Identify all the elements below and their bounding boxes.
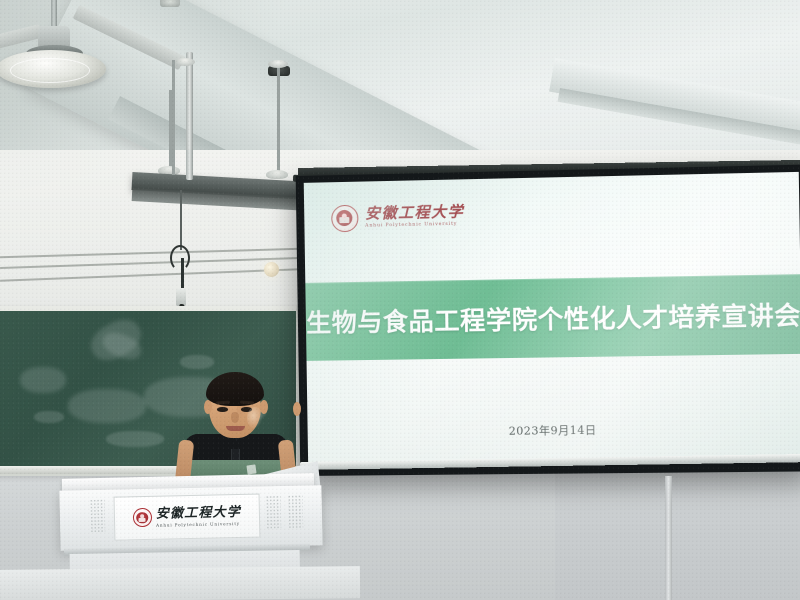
presenter-nose [231,412,239,423]
screen-rod-cap [268,60,288,68]
front-desk-surface [0,566,360,600]
podium-university-logo: 安徽工程大学 Anhui Polytechnic University [133,506,242,528]
light-hanger-cap [266,170,288,179]
projection-screen: 安徽工程大学 Anhui Polytechnic University 生物与食… [296,165,800,476]
podium-logo-name-en: Anhui Polytechnic University [156,522,241,528]
university-seal-icon [133,508,152,527]
presenter-ear-left [204,400,212,414]
university-seal-icon [331,204,358,232]
presentation-slide: 安徽工程大学 Anhui Polytechnic University 生物与食… [304,172,800,466]
podium-logo-panel: 安徽工程大学 Anhui Polytechnic University [114,494,261,541]
seal-inner-dot [141,515,145,519]
presenter-ear [293,402,301,416]
slide-title: 生物与食品工程学院个性化人才培养宣讲会 [306,296,800,340]
podium-speaker-vent [90,499,106,533]
hanging-cord-tail [181,258,184,290]
podium-logo-name-cn: 安徽工程大学 [156,506,241,521]
lectern: 安徽工程大学 Anhui Polytechnic University [59,485,322,550]
screen-hanger-wire [172,60,175,175]
hanging-cord [180,190,182,250]
slide-logo-name-cn: 安徽工程大学 [365,204,464,221]
projection-screen-surface: 安徽工程大学 Anhui Polytechnic University 生物与食… [304,172,800,466]
slide-date: 2023年9月14日 [308,419,800,441]
wall-lamp-icon [264,262,279,277]
classroom-photo-scene: 安徽工程大学 Anhui Polytechnic University 生物与食… [0,0,800,600]
podium-speaker-vent [266,495,282,529]
presenter-hair [206,372,264,406]
slide-logo-name-en: Anhui Polytechnic University [365,222,464,229]
slide-title-banner: 生物与食品工程学院个性化人才培养宣讲会 [305,275,800,362]
screen-support-rod [186,52,193,180]
presenter-mouth [226,426,245,431]
screen-ceiling-mount [160,0,180,7]
screen-hanger-wire [277,62,280,167]
hanging-cord-loop [170,245,190,271]
seal-inner-dot [342,213,347,218]
fan-dome-ring [10,58,90,83]
presenter-face-highlight [247,407,263,429]
screen-rod-cap [175,58,195,66]
presenter-eye [217,407,228,412]
podium-logo-text: 安徽工程大学 Anhui Polytechnic University [156,506,242,527]
shirt-chest-logo-icon [246,464,256,474]
podium-speaker-vent [288,495,304,529]
fan-downrod [51,0,57,28]
slide-university-logo: 安徽工程大学 Anhui Polytechnic University [331,202,465,232]
wall-pipe [665,476,672,600]
slide-logo-text: 安徽工程大学 Anhui Polytechnic University [365,204,465,229]
